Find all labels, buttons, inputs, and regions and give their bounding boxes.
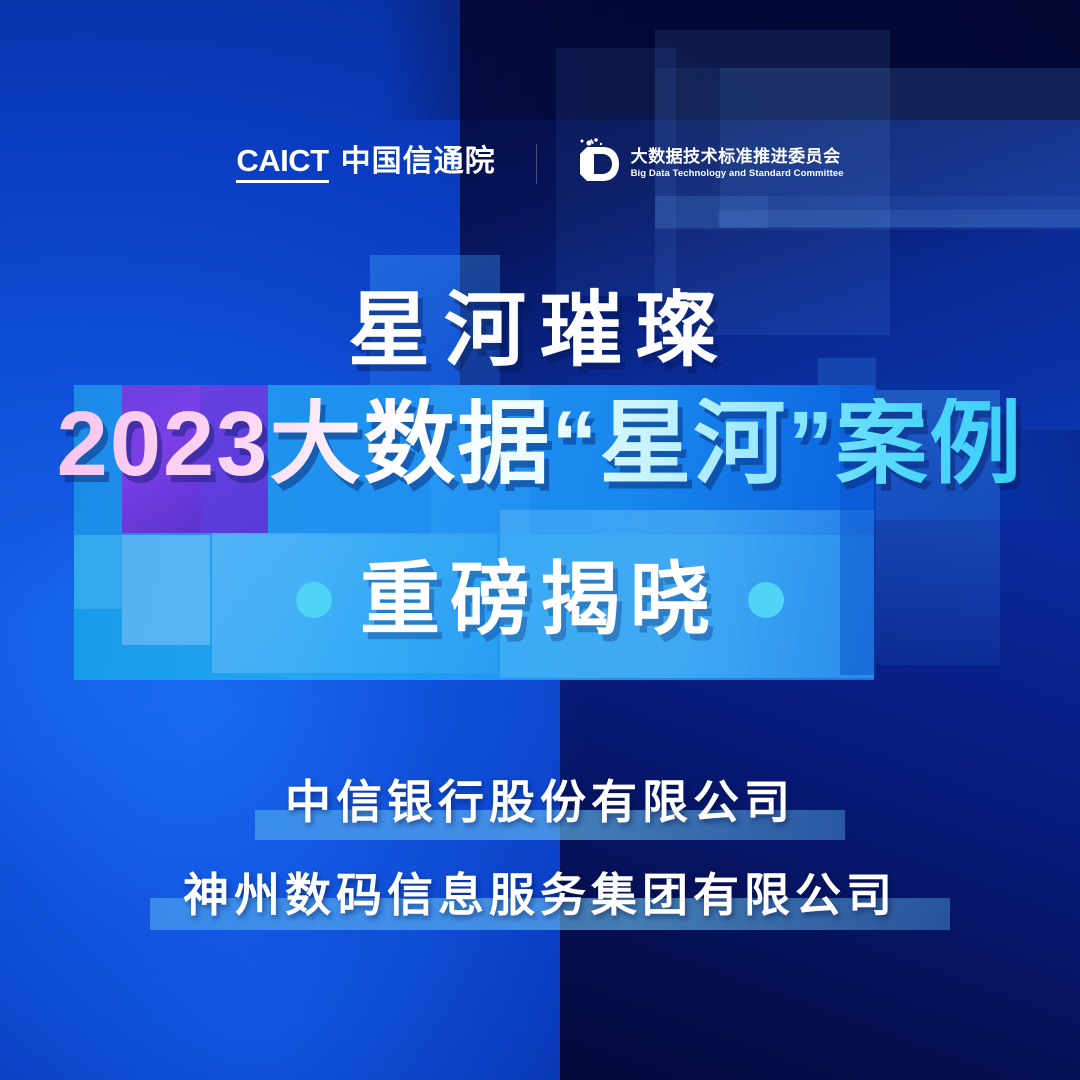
- committee-name-en: Big Data Technology and Standard Committ…: [631, 169, 844, 179]
- title-line-3: 重磅揭晓: [360, 560, 720, 640]
- letter-d-sparkle-icon: [577, 137, 621, 192]
- header-logos: CAICT 中国信通院 大数据技术标准推进委员会 Big Data Techno…: [0, 132, 1080, 196]
- cyan-dot-icon-right: [748, 582, 784, 618]
- decor-rect-7: [655, 196, 768, 228]
- caict-name-cn: 中国信通院: [341, 147, 496, 183]
- title-line-2-wrapper: 2023大数据“星河”案例: [0, 398, 1080, 490]
- title-line-2: 2023大数据“星河”案例: [57, 398, 1024, 490]
- title-line-1: 星河璀璨: [0, 290, 1080, 372]
- awardee-name-1: 中信银行股份有限公司: [0, 779, 1080, 825]
- caict-logo: CAICT 中国信通院: [236, 145, 495, 183]
- committee-logo: 大数据技术标准推进委员会 Big Data Technology and Sta…: [577, 137, 844, 192]
- committee-text: 大数据技术标准推进委员会 Big Data Technology and Sta…: [631, 148, 844, 179]
- awardee-name-2: 神州数码信息服务集团有限公司: [0, 872, 1080, 918]
- caict-wordmark: CAICT: [236, 145, 328, 183]
- title-line-3-row: 重磅揭晓: [0, 560, 1080, 640]
- cyan-dot-icon-left: [296, 582, 332, 618]
- committee-name-cn: 大数据技术标准推进委员会: [631, 148, 844, 167]
- poster-canvas: CAICT 中国信通院 大数据技术标准推进委员会 Big Data Techno…: [0, 0, 1080, 1080]
- header-divider: [536, 144, 537, 184]
- decor-rect-6: [718, 210, 1080, 227]
